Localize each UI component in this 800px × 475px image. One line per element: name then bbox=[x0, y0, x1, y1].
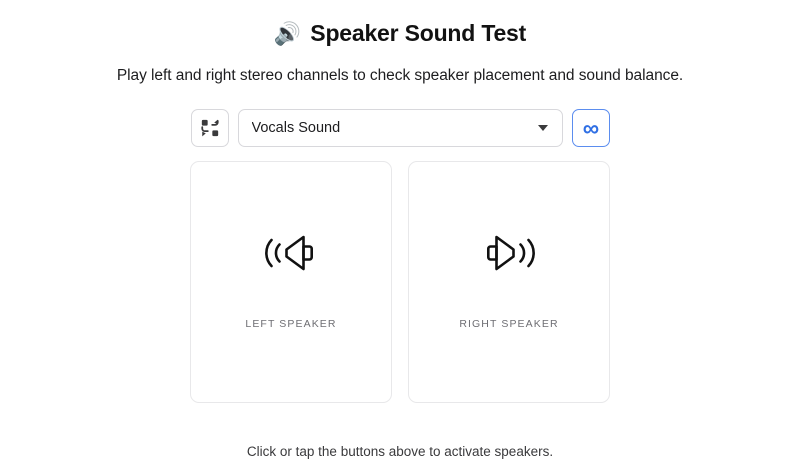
speaker-right-icon bbox=[480, 224, 538, 282]
page-title-text: Speaker Sound Test bbox=[310, 20, 526, 47]
right-speaker-button[interactable]: RIGHT SPEAKER bbox=[408, 161, 610, 403]
left-speaker-button[interactable]: LEFT SPEAKER bbox=[190, 161, 392, 403]
page-title: 🔊 Speaker Sound Test bbox=[274, 20, 526, 47]
loop-toggle-button[interactable]: ∞ bbox=[572, 109, 610, 147]
sound-select-value: Vocals Sound bbox=[252, 120, 538, 136]
infinity-icon: ∞ bbox=[583, 117, 598, 140]
chevron-down-icon bbox=[538, 125, 548, 131]
controls-bar: Vocals Sound ∞ bbox=[191, 109, 610, 147]
speaker-sound-test-page: 🔊 Speaker Sound Test Play left and right… bbox=[0, 0, 800, 475]
loud-speaker-emoji: 🔊 bbox=[274, 23, 301, 45]
swap-channels-button[interactable] bbox=[191, 109, 229, 147]
sound-select[interactable]: Vocals Sound bbox=[238, 109, 563, 147]
speaker-panels: LEFT SPEAKER RIGHT SPEAKER bbox=[190, 161, 610, 403]
swap-channels-icon bbox=[200, 118, 220, 138]
right-speaker-label: RIGHT SPEAKER bbox=[459, 318, 558, 330]
footer-hint: Click or tap the buttons above to activa… bbox=[0, 444, 800, 459]
page-subtitle: Play left and right stereo channels to c… bbox=[117, 67, 683, 85]
left-speaker-label: LEFT SPEAKER bbox=[245, 318, 336, 330]
speaker-left-icon bbox=[262, 224, 320, 282]
